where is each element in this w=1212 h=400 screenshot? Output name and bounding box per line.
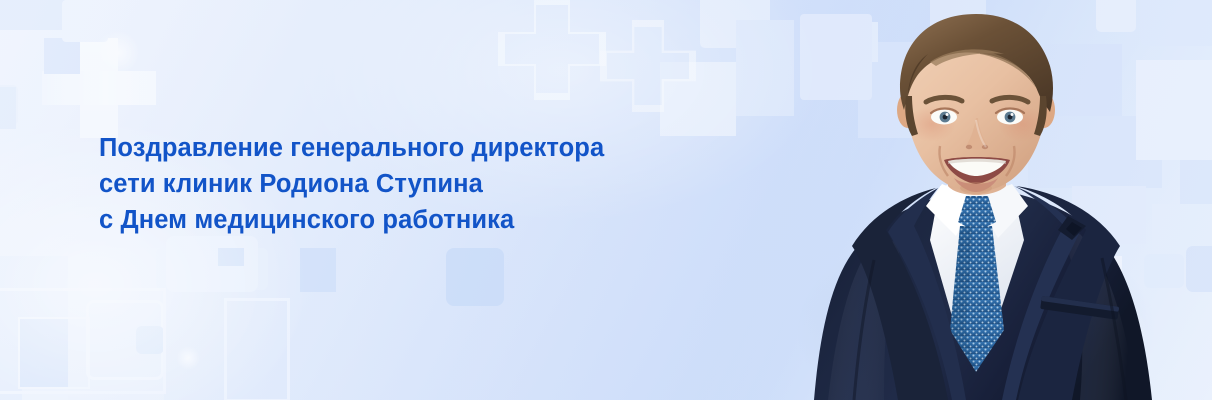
- bg-tile: [0, 0, 74, 30]
- bg-tile: [62, 0, 108, 42]
- bg-tile: [700, 0, 770, 48]
- bg-tile: [156, 248, 268, 290]
- medical-cross-outline: [498, 0, 606, 100]
- bg-tile: [20, 317, 90, 389]
- bg-tile: [218, 248, 244, 266]
- bg-tile: [0, 85, 18, 125]
- medical-cross-outline: [600, 20, 696, 112]
- banner-headline: Поздравление генерального директора сети…: [99, 130, 739, 238]
- background-glow: [95, 30, 141, 76]
- bg-tile: [660, 62, 736, 136]
- bg-tile-outline: [0, 288, 166, 394]
- background-glow: [175, 345, 201, 371]
- bg-tile-outline: [224, 298, 290, 400]
- portrait-of-general-director: [780, 0, 1212, 400]
- congratulation-banner: Поздравление генерального директора сети…: [0, 0, 1212, 400]
- medical-cross-outline-fill: [505, 5, 599, 93]
- bg-tile: [136, 326, 164, 354]
- bg-tile-outline: [86, 300, 164, 380]
- bg-tile: [44, 38, 80, 74]
- bg-tile: [300, 248, 336, 292]
- bg-tile: [0, 87, 16, 129]
- bg-tile: [18, 317, 90, 389]
- bg-tile: [446, 248, 504, 306]
- bg-tile: [22, 318, 88, 400]
- bg-tile: [68, 248, 164, 400]
- bg-tile: [166, 236, 258, 292]
- medical-cross: [42, 38, 156, 138]
- bg-tile: [0, 256, 68, 400]
